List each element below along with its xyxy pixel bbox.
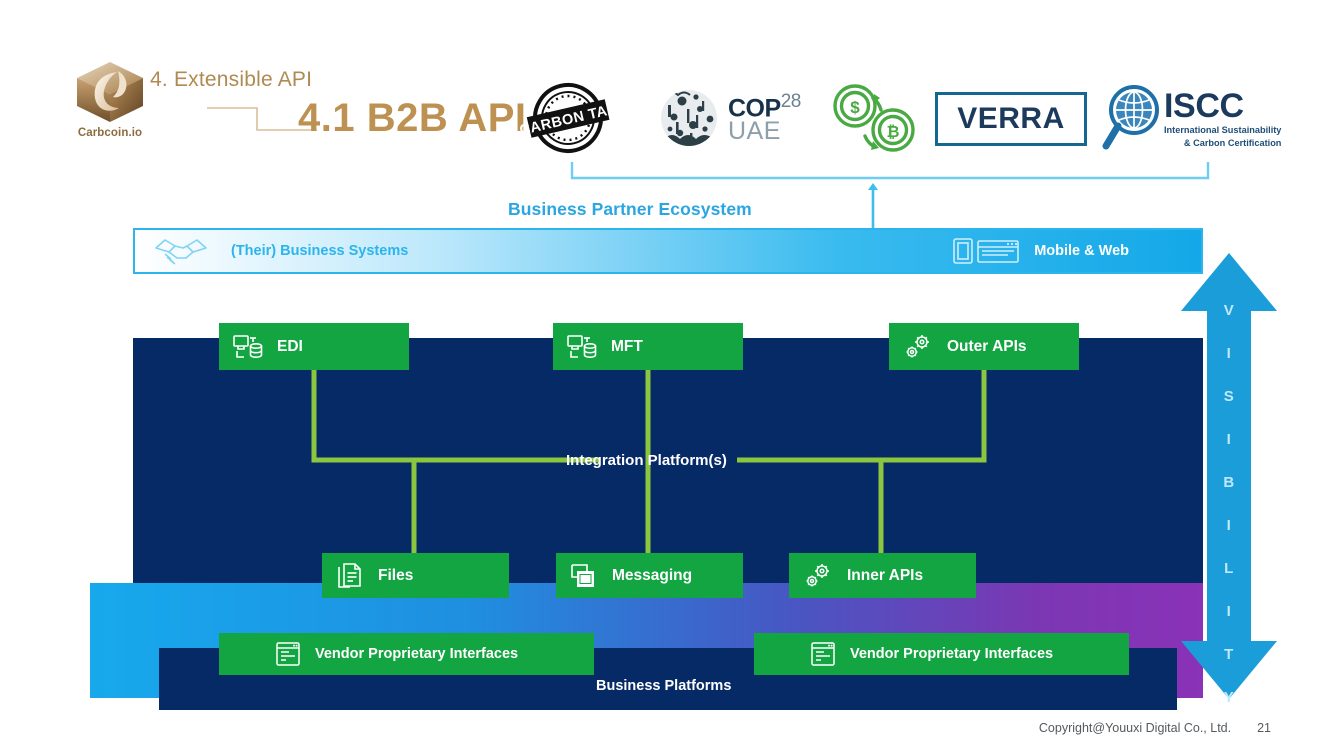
- box-outer-apis-label: Outer APIs: [947, 338, 1027, 356]
- box-vendor-proprietary-interfaces-right-label: Vendor Proprietary Interfaces: [850, 646, 1053, 662]
- brand-name: Carbcoin.io: [78, 127, 142, 139]
- svg-text:$: $: [850, 98, 860, 117]
- cop28-sublabel: UAE: [728, 119, 801, 144]
- ecosystem-label: Business Partner Ecosystem: [508, 199, 752, 220]
- visibility-letter: S: [1224, 389, 1235, 404]
- network-database-icon: [567, 333, 597, 361]
- box-vendor-proprietary-interfaces-right[interactable]: Vendor Proprietary Interfaces: [754, 633, 1129, 675]
- visibility-letter: I: [1227, 518, 1232, 533]
- box-mft[interactable]: MFT: [553, 323, 743, 370]
- carbon-tax-stamp-icon: CARBON TAX: [520, 82, 616, 154]
- visibility-letter: I: [1227, 604, 1232, 619]
- iscc-sub-line1: International Sustainability: [1164, 125, 1281, 137]
- slide-root: Carbcoin.io 4. Extensible API 4.1 B2B AP…: [0, 0, 1334, 750]
- copyright-text: Copyright@Youuxi Digital Co., Ltd.: [1039, 721, 1231, 735]
- iscc-sub-line2: & Carbon Certification: [1164, 138, 1281, 150]
- mobile-and-browser-icon: [952, 237, 1020, 265]
- cop28-uae-logo: COP28 UAE: [660, 86, 820, 150]
- box-edi[interactable]: EDI: [219, 323, 409, 370]
- gears-icon: [803, 562, 833, 590]
- business-partner-bar: (Their) Business Systems Mobile & Web: [133, 228, 1203, 274]
- visibility-letter: T: [1224, 647, 1234, 662]
- integration-platform-label: Integration Platform(s): [566, 452, 727, 469]
- business-systems-label: (Their) Business Systems: [231, 243, 408, 259]
- network-database-icon: [233, 333, 263, 361]
- visibility-label: V I S I B I L I T Y: [1199, 303, 1259, 733]
- box-vendor-proprietary-interfaces-left-label: Vendor Proprietary Interfaces: [315, 646, 518, 662]
- brand-logo: Carbcoin.io: [62, 58, 158, 150]
- mobile-web-label: Mobile & Web: [1034, 243, 1129, 259]
- box-edi-label: EDI: [277, 338, 303, 356]
- visibility-letter: L: [1224, 561, 1234, 576]
- box-inner-apis[interactable]: Inner APIs: [789, 553, 976, 598]
- visibility-letter: V: [1224, 303, 1235, 318]
- page-title: 4.1 B2B API: [298, 96, 527, 141]
- footer: Copyright@Youuxi Digital Co., Ltd. 21: [1039, 721, 1271, 735]
- box-messaging[interactable]: Messaging: [556, 553, 743, 598]
- svg-text:CARBON TAX: CARBON TAX: [520, 101, 616, 139]
- ecosystem-bracket: [570, 160, 1210, 182]
- carbcoin-cube-leaf-logo-icon: [71, 58, 149, 126]
- iscc-globe-magnifier-icon: [1100, 84, 1162, 154]
- message-window-icon: [570, 562, 598, 590]
- documents-icon: [336, 562, 364, 590]
- visibility-letter: B: [1223, 475, 1234, 490]
- box-vendor-proprietary-interfaces-left[interactable]: Vendor Proprietary Interfaces: [219, 633, 594, 675]
- svg-text:₿: ₿: [886, 123, 899, 141]
- verra-logo: VERRA: [935, 92, 1087, 146]
- box-outer-apis[interactable]: Outer APIs: [889, 323, 1079, 370]
- section-kicker: 4. Extensible API: [150, 68, 312, 92]
- verra-label: VERRA: [957, 102, 1065, 136]
- cop28-globe-icon: [660, 89, 718, 147]
- gears-icon: [903, 333, 933, 361]
- box-files[interactable]: Files: [322, 553, 509, 598]
- iscc-logo: ISCC International Sustainability & Carb…: [1100, 80, 1286, 158]
- visibility-letter: Y: [1224, 690, 1235, 705]
- page-number: 21: [1257, 721, 1271, 735]
- box-messaging-label: Messaging: [612, 567, 692, 585]
- terminal-window-icon: [275, 641, 301, 667]
- box-mft-label: MFT: [611, 338, 643, 356]
- visibility-letter: I: [1227, 432, 1232, 447]
- box-inner-apis-label: Inner APIs: [847, 567, 923, 585]
- visibility-letter: I: [1227, 346, 1232, 361]
- box-files-label: Files: [378, 567, 413, 585]
- handshake-icon: [153, 236, 209, 266]
- dollar-bitcoin-exchange-icon: $ ₿: [825, 80, 925, 156]
- terminal-window-icon: [810, 641, 836, 667]
- business-platforms-label: Business Platforms: [596, 678, 731, 694]
- iscc-label: ISCC: [1164, 89, 1281, 123]
